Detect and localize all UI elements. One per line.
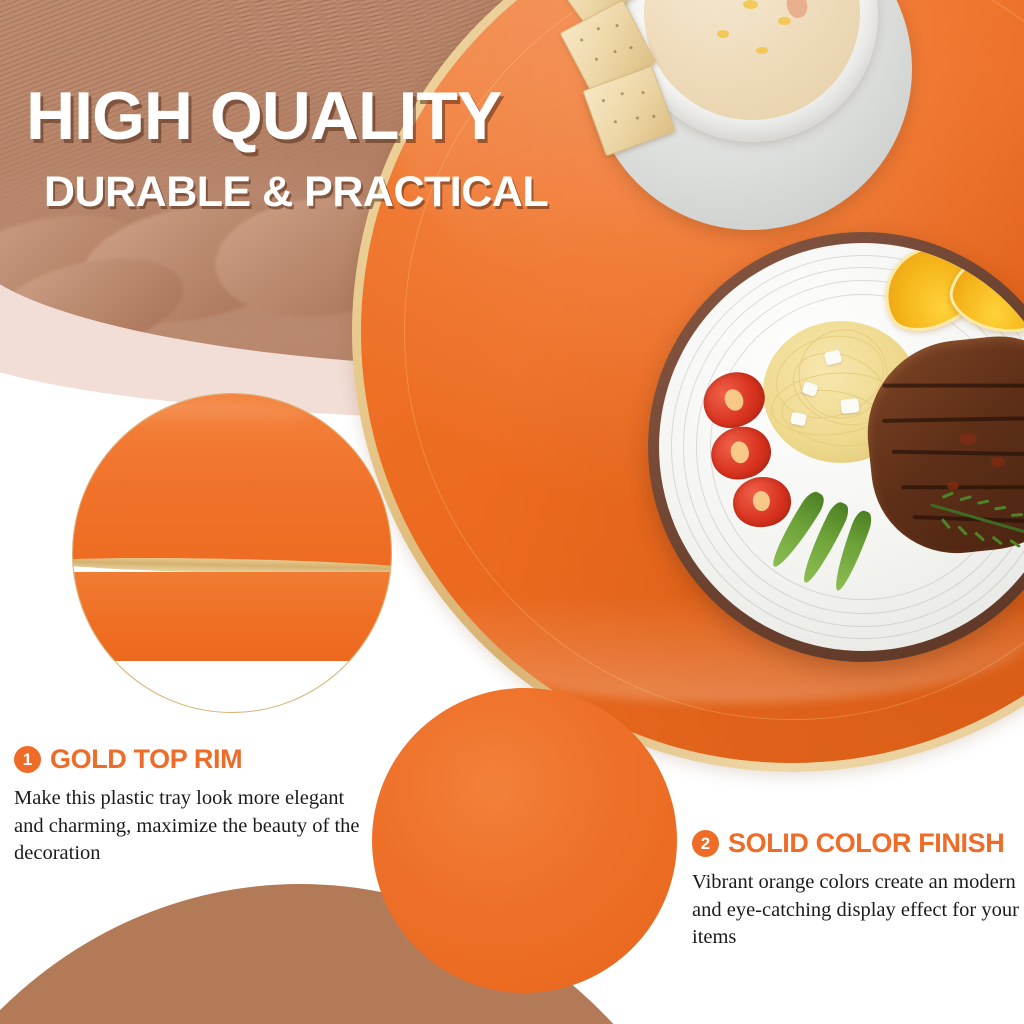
- rim-upper-face: [72, 394, 392, 566]
- feature-title: SOLID COLOR FINISH: [728, 828, 1004, 859]
- product-poster: HIGH QUALITY DURABLE & PRACTICAL 1 GOLD …: [0, 0, 1024, 1024]
- gold-rim-detail-circle: [72, 393, 392, 713]
- headline-block: HIGH QUALITY DURABLE & PRACTICAL: [26, 84, 548, 214]
- headline-secondary: DURABLE & PRACTICAL: [44, 171, 548, 214]
- headline-primary: HIGH QUALITY: [26, 84, 548, 149]
- feature-heading: 2 SOLID COLOR FINISH: [692, 828, 1022, 859]
- feature-solid-color-finish: 2 SOLID COLOR FINISH Vibrant orange colo…: [692, 828, 1022, 952]
- feature-number-badge: 2: [692, 830, 719, 857]
- solid-color-detail-circle: [372, 688, 677, 993]
- main-dish-plate: [648, 232, 1024, 662]
- chowder: [644, 0, 860, 120]
- rim-highlight: [111, 401, 310, 428]
- feature-number-badge: 1: [14, 746, 41, 773]
- feature-description: Vibrant orange colors create an modern a…: [692, 869, 1022, 952]
- feature-heading: 1 GOLD TOP RIM: [14, 744, 364, 775]
- rim-lower-face: [72, 572, 392, 661]
- feature-gold-top-rim: 1 GOLD TOP RIM Make this plastic tray lo…: [14, 744, 364, 868]
- feature-description: Make this plastic tray look more elegant…: [14, 785, 364, 868]
- soup-dish: [590, 0, 912, 230]
- feature-title: GOLD TOP RIM: [50, 744, 242, 775]
